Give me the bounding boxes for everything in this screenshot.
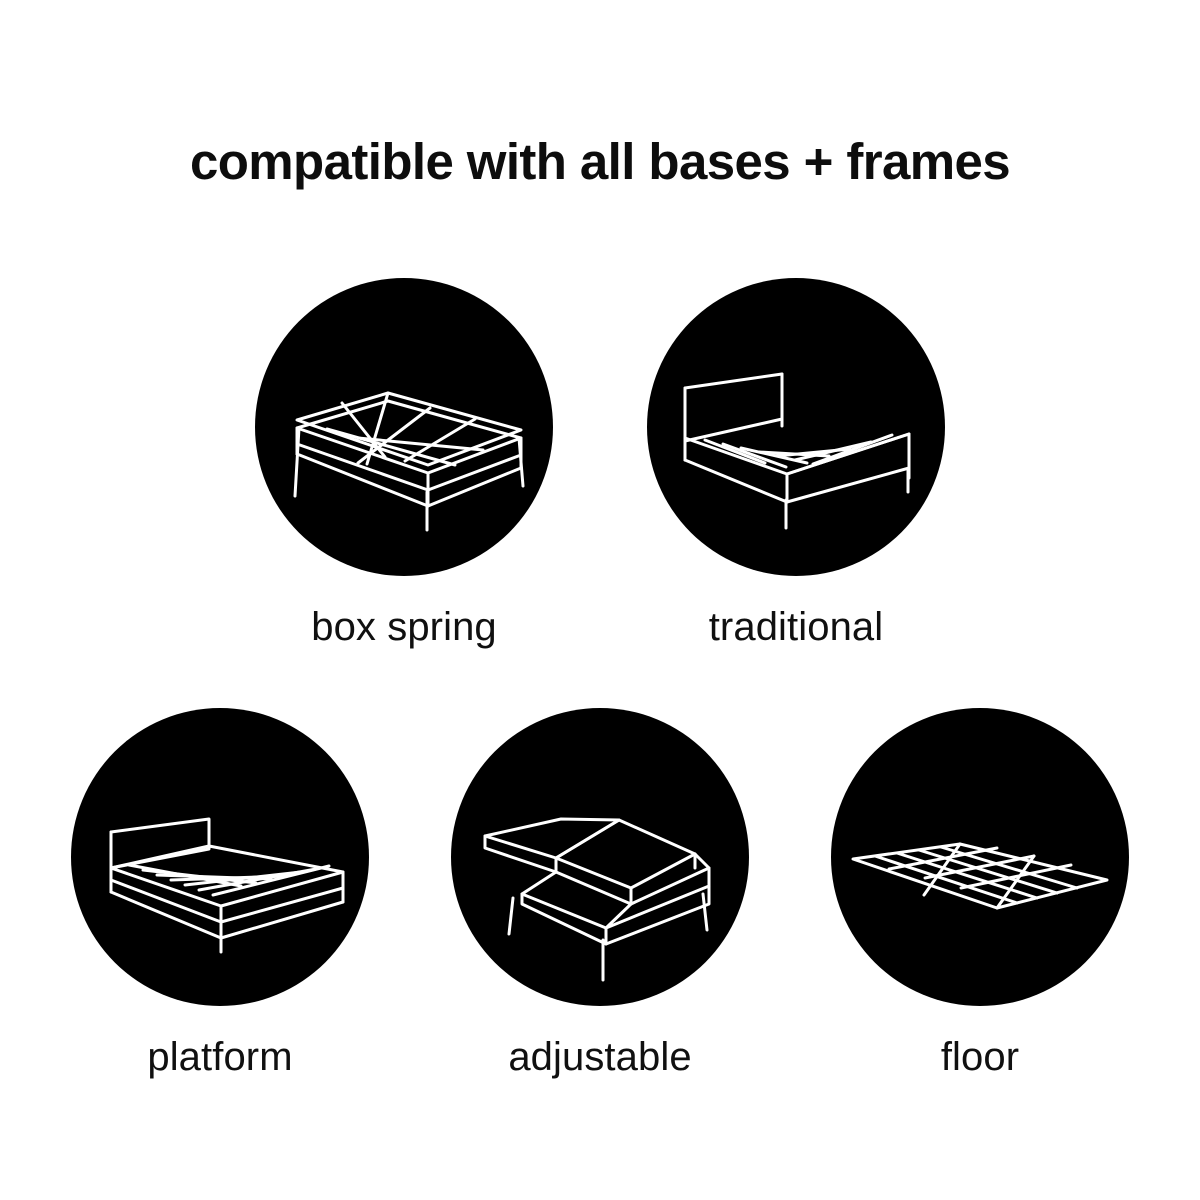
spacer bbox=[369, 708, 451, 1080]
disc-floor bbox=[831, 708, 1129, 1006]
caption-platform: platform bbox=[147, 1034, 292, 1080]
disc-adjustable bbox=[451, 708, 749, 1006]
tile-floor[interactable]: floor bbox=[831, 708, 1129, 1080]
icon-row-top: box spring bbox=[0, 278, 1200, 650]
caption-adjustable: adjustable bbox=[508, 1034, 691, 1080]
caption-floor: floor bbox=[941, 1034, 1019, 1080]
box-spring-bed-icon bbox=[255, 278, 553, 576]
disc-box-spring bbox=[255, 278, 553, 576]
disc-traditional bbox=[647, 278, 945, 576]
spacer bbox=[749, 708, 831, 1080]
traditional-bed-frame-icon bbox=[647, 278, 945, 576]
floor-slats-icon bbox=[831, 708, 1129, 1006]
adjustable-base-icon bbox=[451, 708, 749, 1006]
icon-row-bottom: platform bbox=[0, 708, 1200, 1080]
spacer bbox=[553, 278, 647, 650]
caption-box-spring: box spring bbox=[311, 604, 497, 650]
platform-bed-icon bbox=[71, 708, 369, 1006]
tile-box-spring[interactable]: box spring bbox=[255, 278, 553, 650]
tile-platform[interactable]: platform bbox=[71, 708, 369, 1080]
caption-traditional: traditional bbox=[709, 604, 884, 650]
compatibility-graphic: compatible with all bases + frames bbox=[0, 0, 1200, 1200]
tile-traditional[interactable]: traditional bbox=[647, 278, 945, 650]
tile-adjustable[interactable]: adjustable bbox=[451, 708, 749, 1080]
page-title: compatible with all bases + frames bbox=[0, 133, 1200, 191]
disc-platform bbox=[71, 708, 369, 1006]
